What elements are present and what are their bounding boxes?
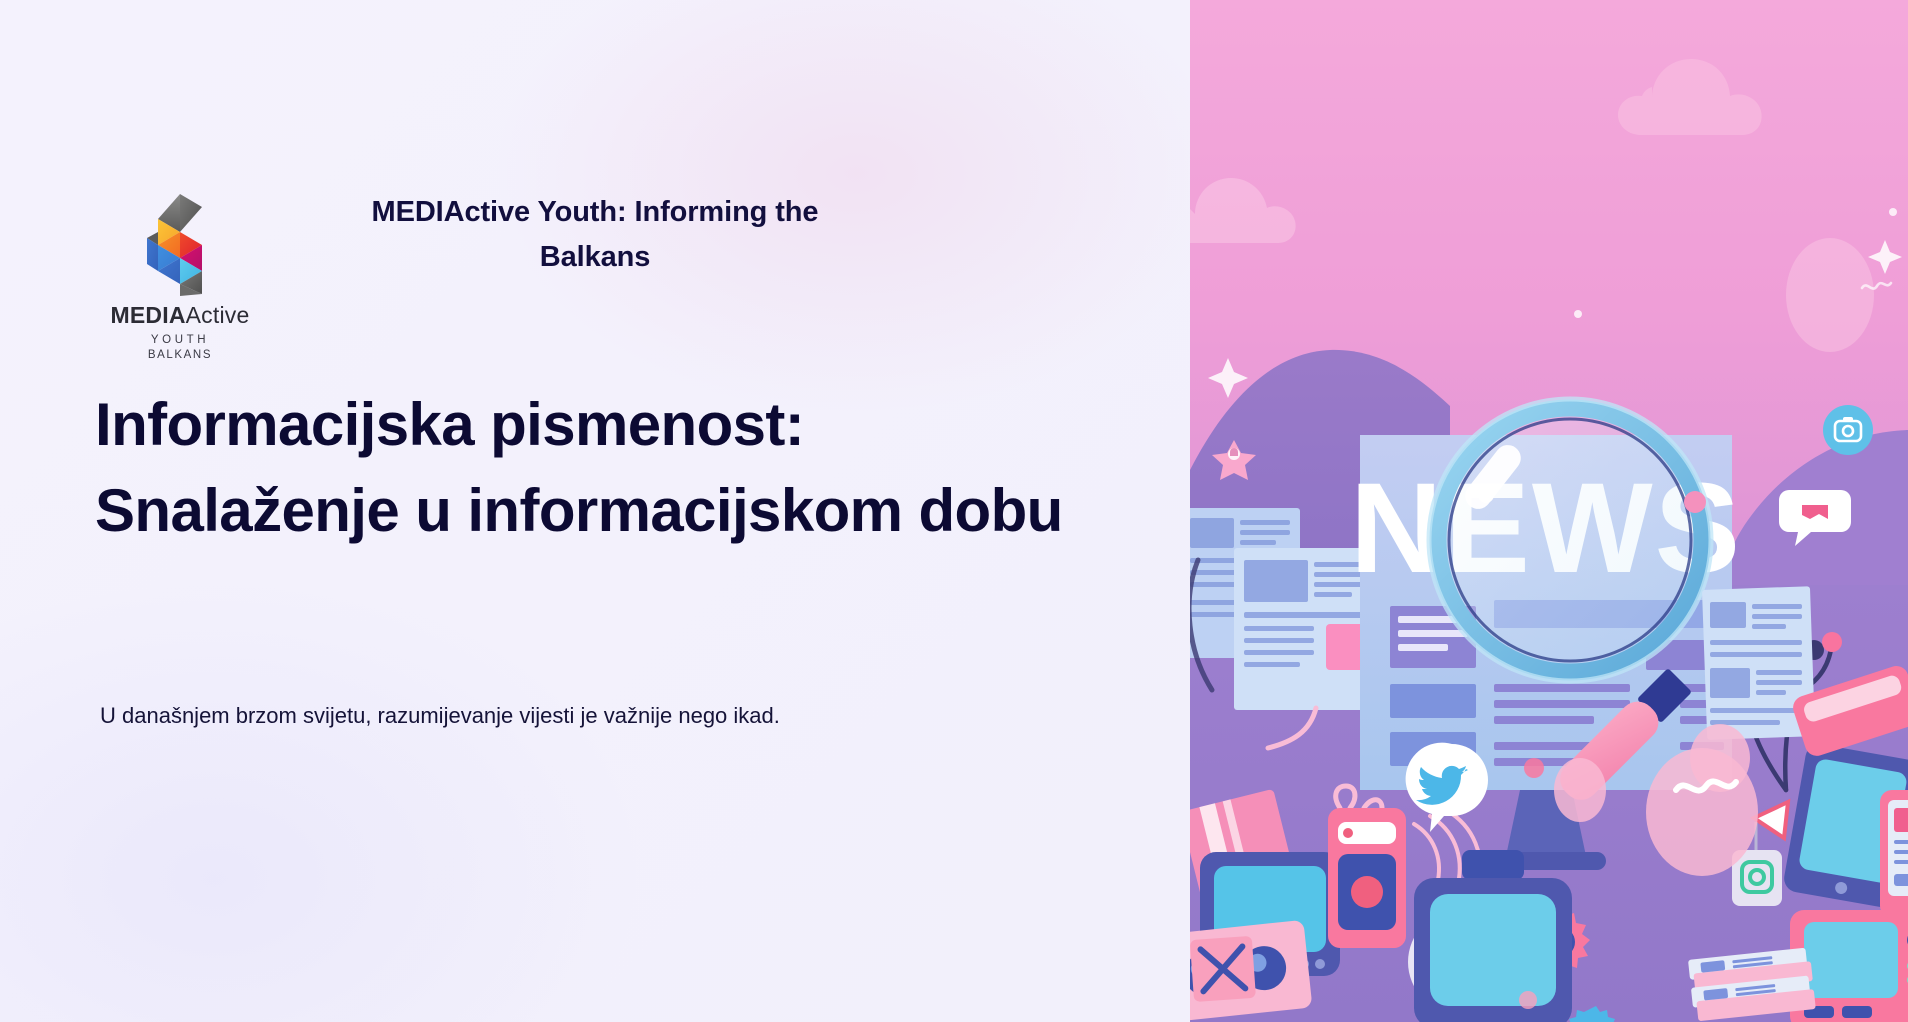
dot-decoration [1524, 758, 1544, 778]
cloud-icon [1786, 238, 1874, 352]
illustration-panel: NEWS [1190, 0, 1908, 1022]
mediactive-cube-logo-icon [134, 188, 226, 300]
newspaper-stack [1688, 947, 1816, 1021]
slide-root: MEDIAActive YOUTH BALKANS MEDIActive You… [0, 0, 1908, 1022]
close-icon [1190, 936, 1256, 1002]
content-panel: MEDIAActive YOUTH BALKANS MEDIActive You… [0, 0, 1190, 1022]
camera-icon [1823, 405, 1873, 455]
logo-wordmark: MEDIAActive [111, 304, 250, 327]
media-literacy-news-illustration: NEWS [1190, 0, 1908, 1022]
brand-logo: MEDIAActive YOUTH BALKANS [95, 188, 265, 361]
header-title: MEDIActive Youth: Informing the Balkans [330, 190, 860, 280]
dot-decoration [1519, 991, 1537, 1009]
smartphone [1880, 790, 1908, 918]
page-subtitle: U današnjem brzom svijetu, razumijevanje… [100, 700, 1110, 732]
logo-subline-youth: YOUTH [151, 334, 209, 346]
blob-decoration [1554, 758, 1606, 822]
portable-media-player [1328, 786, 1406, 948]
page-title: Informacijska pismenost: Snalaženje u in… [95, 382, 1105, 555]
logo-subline-balkans: BALKANS [148, 349, 212, 361]
